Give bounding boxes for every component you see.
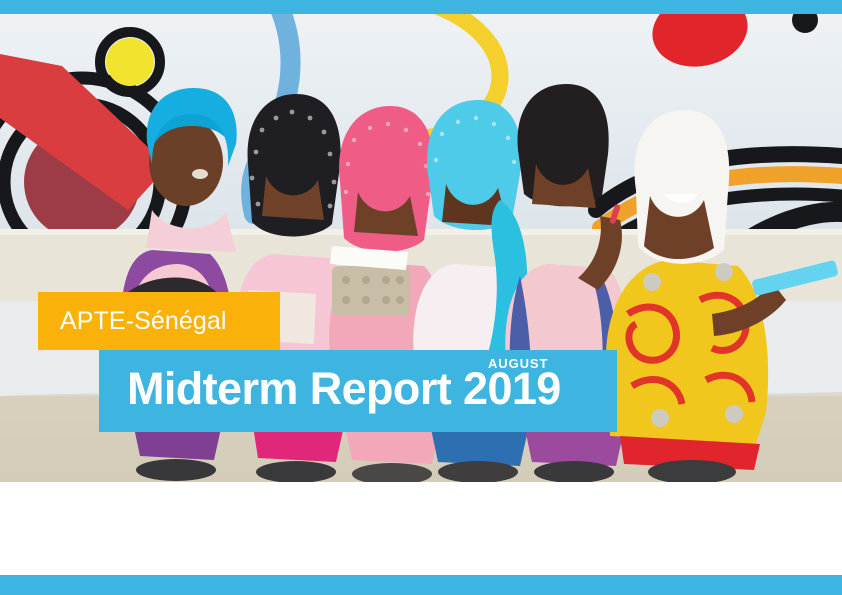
publication-month: AUGUST — [488, 357, 548, 370]
report-cover-page: APTE-Sénégal Midterm Report 2019 AUGUST … — [0, 0, 842, 595]
bottom-accent-bar — [0, 575, 842, 595]
program-banner: APTE-Sénégal — [38, 292, 280, 350]
title-banner: Midterm Report 2019 AUGUST — [99, 350, 617, 432]
top-accent-bar — [0, 0, 842, 14]
logo-strip: EDC Education Development Center masterc… — [0, 482, 842, 575]
program-label: APTE-Sénégal — [38, 309, 227, 334]
